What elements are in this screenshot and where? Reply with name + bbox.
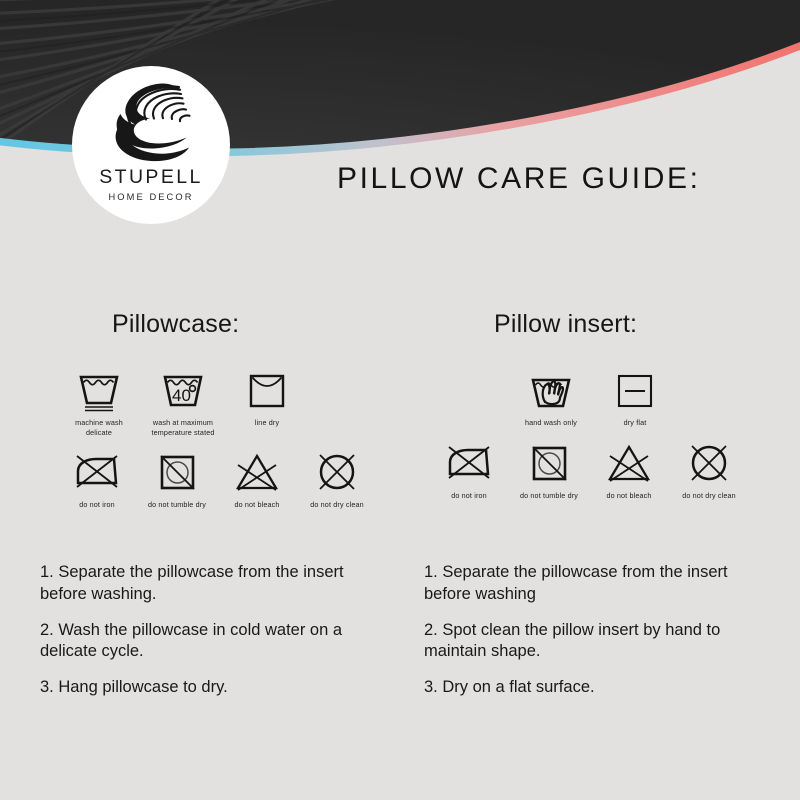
care-symbol-label: line dry bbox=[255, 418, 279, 428]
care-symbol-label: dry flat bbox=[624, 418, 647, 428]
do-not-dry-clean-icon bbox=[685, 440, 733, 486]
care-symbol-machine-wash-delicate: machine wash delicate bbox=[62, 367, 136, 437]
machine-wash-delicate-icon bbox=[75, 367, 123, 413]
care-symbol-label: hand wash only bbox=[525, 418, 577, 428]
care-symbol-label: wash at maximum temperature stated bbox=[151, 418, 214, 437]
care-symbol-label: do not dry clean bbox=[310, 500, 364, 510]
pillow-insert-section: Pillow insert: hand wash only bbox=[424, 312, 784, 500]
do-not-tumble-dry-icon bbox=[153, 449, 201, 495]
pillow-insert-heading: Pillow insert: bbox=[424, 312, 784, 337]
hand-wash-only-icon bbox=[527, 367, 575, 413]
care-symbol-wash-max-temperature: 40 wash at maximum temperature stated bbox=[146, 367, 220, 437]
instruction-step: 1. Separate the pillowcase from the inse… bbox=[40, 562, 385, 606]
do-not-tumble-dry-icon bbox=[525, 440, 573, 486]
do-not-iron-icon bbox=[445, 440, 493, 486]
pillow-care-guide-page: STUPELL HOME DECOR PILLOW CARE GUIDE: Pi… bbox=[0, 0, 800, 800]
instruction-step: 2. Spot clean the pillow insert by hand … bbox=[424, 620, 769, 664]
care-symbol-label: do not bleach bbox=[606, 491, 651, 501]
pillowcase-instructions: 1. Separate the pillowcase from the inse… bbox=[40, 562, 385, 699]
pillow-insert-care-row-1: hand wash only dry flat bbox=[424, 367, 784, 428]
pillowcase-care-row-1: machine wash delicate 40 wash at maximum… bbox=[40, 367, 400, 437]
wash-temperature-value: 40 bbox=[172, 386, 191, 405]
care-symbol-label: do not iron bbox=[451, 491, 487, 501]
instruction-step: 1. Separate the pillowcase from the inse… bbox=[424, 562, 769, 606]
brand-name: STUPELL bbox=[99, 168, 203, 188]
care-symbol-do-not-iron: do not iron bbox=[432, 440, 506, 501]
care-symbol-dry-flat: dry flat bbox=[598, 367, 672, 428]
care-symbol-do-not-bleach: do not bleach bbox=[220, 449, 294, 510]
care-symbol-do-not-tumble-dry: do not tumble dry bbox=[512, 440, 586, 501]
care-symbol-do-not-dry-clean: do not dry clean bbox=[300, 449, 374, 510]
pillowcase-care-row-2: do not iron do not tumble dry do not b bbox=[40, 449, 400, 510]
pillow-insert-instructions: 1. Separate the pillowcase from the inse… bbox=[424, 562, 769, 699]
care-symbol-do-not-tumble-dry: do not tumble dry bbox=[140, 449, 214, 510]
brand-tagline: HOME DECOR bbox=[108, 193, 193, 202]
care-symbol-do-not-dry-clean: do not dry clean bbox=[672, 440, 746, 501]
care-symbol-label: do not dry clean bbox=[682, 491, 736, 501]
care-symbol-label: do not iron bbox=[79, 500, 115, 510]
care-symbol-do-not-iron: do not iron bbox=[60, 449, 134, 510]
care-symbol-label: do not tumble dry bbox=[148, 500, 206, 510]
line-dry-icon bbox=[243, 367, 291, 413]
pillowcase-heading: Pillowcase: bbox=[40, 312, 400, 337]
instruction-step: 2. Wash the pillowcase in cold water on … bbox=[40, 620, 385, 664]
brand-logo-badge: STUPELL HOME DECOR bbox=[72, 66, 230, 224]
wash-max-temperature-40-icon: 40 bbox=[159, 367, 207, 413]
instruction-step: 3. Hang pillowcase to dry. bbox=[40, 677, 385, 699]
care-symbol-label: machine wash delicate bbox=[75, 418, 123, 437]
care-symbol-label: do not bleach bbox=[234, 500, 279, 510]
pillowcase-section: Pillowcase: machine wash delicate 40 bbox=[40, 312, 400, 510]
do-not-bleach-icon bbox=[233, 449, 281, 495]
stupell-s-swoosh-icon bbox=[97, 79, 205, 167]
care-symbol-label: do not tumble dry bbox=[520, 491, 578, 501]
do-not-iron-icon bbox=[73, 449, 121, 495]
care-symbol-hand-wash-only: hand wash only bbox=[514, 367, 588, 428]
care-symbol-do-not-bleach: do not bleach bbox=[592, 440, 666, 501]
instruction-step: 3. Dry on a flat surface. bbox=[424, 677, 769, 699]
do-not-bleach-icon bbox=[605, 440, 653, 486]
do-not-dry-clean-icon bbox=[313, 449, 361, 495]
pillow-insert-care-row-2: do not iron do not tumble dry do not ble… bbox=[424, 440, 784, 501]
dry-flat-icon bbox=[611, 367, 659, 413]
care-symbol-line-dry: line dry bbox=[230, 367, 304, 428]
page-title: PILLOW CARE GUIDE: bbox=[337, 162, 701, 196]
